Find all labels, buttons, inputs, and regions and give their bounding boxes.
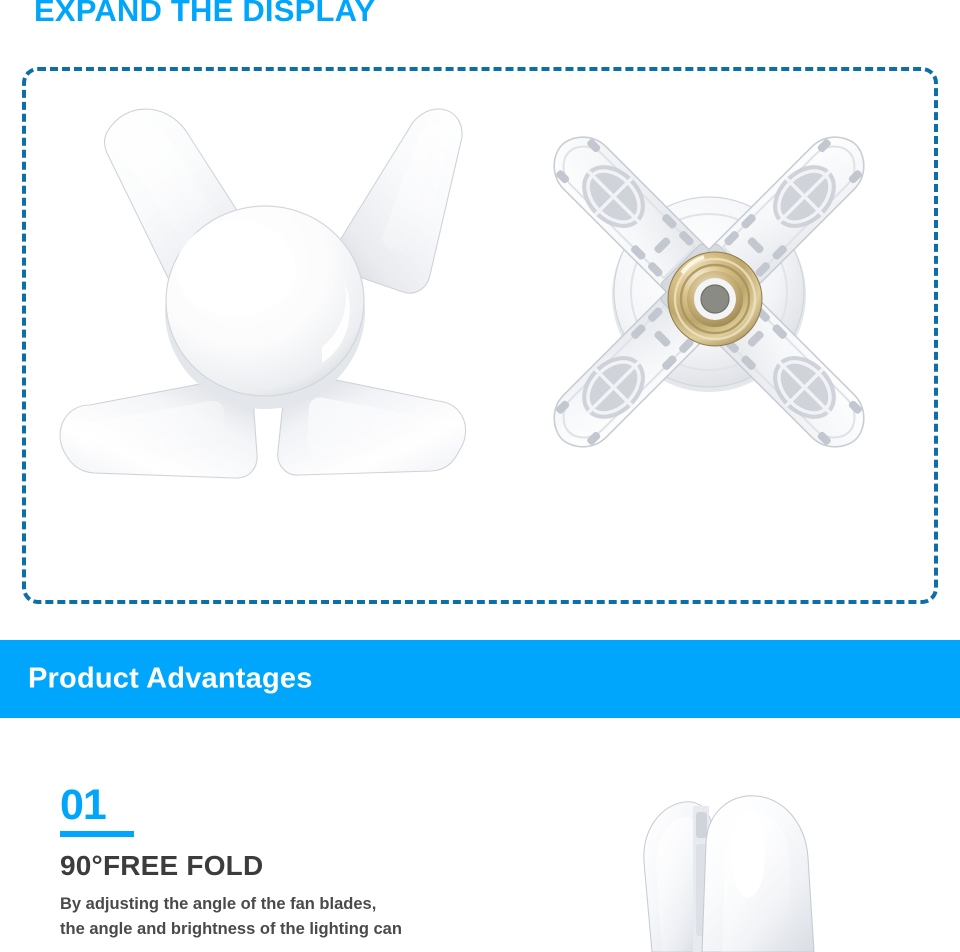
lamp-folded-closeup-image <box>630 788 960 952</box>
lamp-folded-closeup-figure <box>630 788 960 952</box>
page-title: EXPAND THE DISPLAY <box>34 0 375 31</box>
feature-number: 01 <box>60 782 106 828</box>
feature-block-01: 01 90°FREE FOLD By adjusting the angle o… <box>60 782 580 942</box>
lamp-hub <box>165 206 365 409</box>
feature-number-underline <box>60 831 134 837</box>
feature-description-line: By adjusting the angle of the fan blades… <box>60 892 460 917</box>
lamp-front-view-figure <box>50 83 480 503</box>
feature-description: By adjusting the angle of the fan blades… <box>60 892 460 942</box>
product-detail-page: EXPAND THE DISPLAY <box>0 0 960 952</box>
display-frame <box>22 67 938 604</box>
lamp-back-view-figure <box>494 73 924 513</box>
product-advantages-banner: Product Advantages <box>0 640 960 718</box>
product-advantages-label: Product Advantages <box>28 663 313 696</box>
lamp-back-view-image <box>494 73 924 513</box>
folded-blade-right <box>702 796 814 952</box>
feature-description-line: the angle and brightness of the lighting… <box>60 917 460 942</box>
feature-heading: 90°FREE FOLD <box>60 850 580 882</box>
lamp-front-view-image <box>50 83 480 503</box>
lamp-e27-screw-base <box>668 252 762 346</box>
